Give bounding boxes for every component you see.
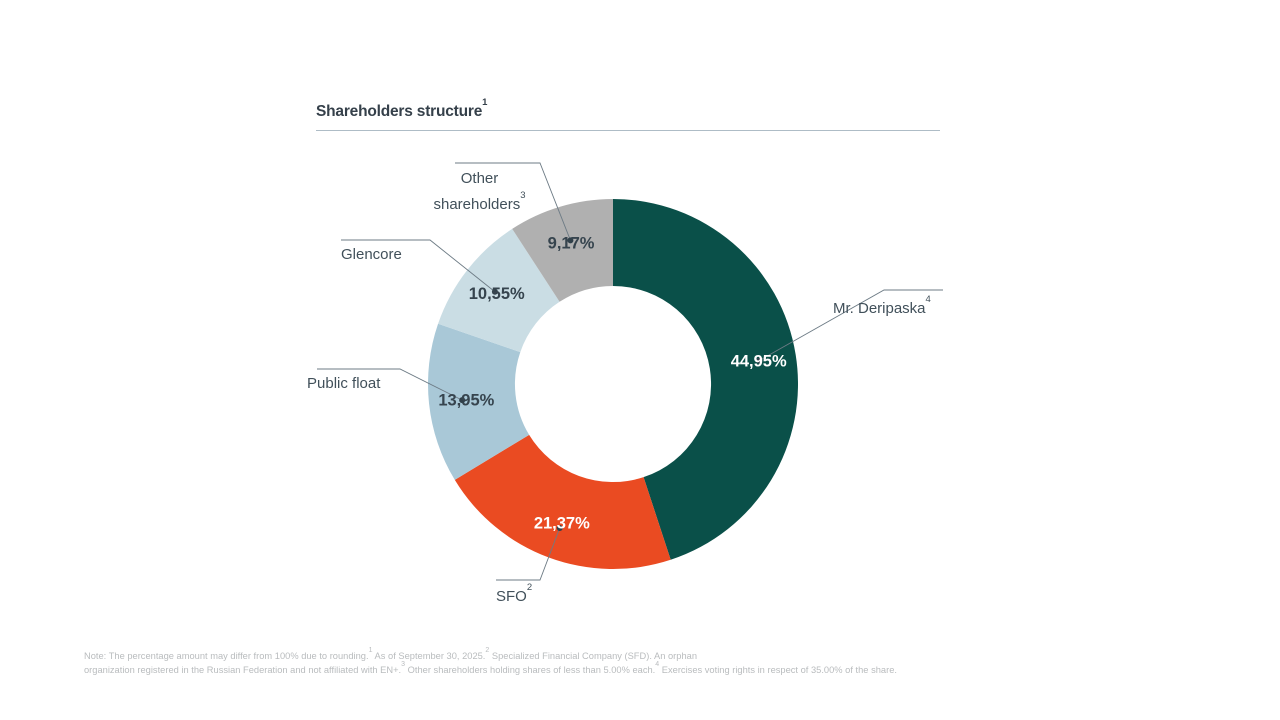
slice-value-labels: 44,95%21,37%13,95%10,55%9,17% — [438, 235, 787, 533]
footnote-marker-4: 4 — [655, 661, 659, 668]
footnote-line2-part3: Exercises voting rights in respect of 35… — [659, 665, 897, 675]
leader-dot — [756, 358, 762, 364]
title-block: Shareholders structure1 — [316, 98, 940, 131]
slice-label-sfo: SFO2 — [496, 583, 532, 607]
footnote-marker-2: 2 — [485, 647, 489, 654]
slice-label-other-shareholders-marker: 3 — [520, 190, 525, 201]
slice-label-deripaska-marker: 4 — [926, 294, 931, 305]
slice-value-label: 44,95% — [731, 353, 787, 371]
footnote-marker-1: 1 — [369, 647, 373, 654]
slice-label-other-shareholders-line2: shareholders — [433, 196, 520, 213]
slice-label-public-float-text: Public float — [307, 375, 380, 392]
slide-canvas: Shareholders structure1 44,95%21,37%13,9… — [0, 0, 1280, 720]
slice-label-other-shareholders-line1: Other — [461, 170, 499, 187]
footnote-line1-part2: As of September 30, 2025. — [372, 651, 485, 661]
title-divider — [316, 130, 940, 131]
leader-dot — [459, 397, 465, 403]
footnote-line2-part1: organization registered in the Russian F… — [84, 665, 401, 675]
leader-dot — [567, 237, 573, 243]
donut-slices — [428, 199, 798, 569]
slice-label-sfo-text: SFO — [496, 588, 527, 605]
slice-value-label: 9,17% — [548, 235, 595, 253]
donut-slice[interactable] — [428, 324, 529, 480]
page-title: Shareholders structure1 — [316, 98, 940, 122]
leader-dot — [557, 525, 563, 531]
footnote-line1-part1: Note: The percentage amount may differ f… — [84, 651, 369, 661]
slice-label-deripaska-text: Mr. Deripaska — [833, 300, 926, 317]
donut-slice[interactable] — [613, 199, 798, 560]
donut-slice[interactable] — [438, 229, 559, 352]
footnote-line1-part3: Specialized Financial Company (SFD). An … — [489, 651, 697, 661]
leader-lines — [317, 163, 943, 580]
page-title-footnote-marker: 1 — [482, 97, 487, 108]
slice-value-label: 13,95% — [438, 392, 494, 410]
slice-label-public-float: Public float — [307, 374, 380, 394]
donut-slice[interactable] — [455, 435, 671, 569]
slice-value-label: 21,37% — [534, 514, 590, 532]
page-title-text: Shareholders structure — [316, 103, 482, 120]
footnote: Note: The percentage amount may differ f… — [84, 648, 1174, 677]
slice-label-other-shareholders: Other shareholders3 — [417, 168, 542, 216]
footnote-line2-part2: Other shareholders holding shares of les… — [405, 665, 655, 675]
slice-label-deripaska: Mr. Deripaska4 — [833, 295, 931, 319]
footnote-marker-3: 3 — [401, 661, 405, 668]
leader-dot — [492, 289, 498, 295]
slice-value-label: 10,55% — [469, 285, 525, 303]
slice-label-glencore-text: Glencore — [341, 246, 402, 263]
slice-label-sfo-marker: 2 — [527, 582, 532, 593]
leader-line — [496, 528, 560, 580]
slice-label-glencore: Glencore — [341, 245, 402, 265]
